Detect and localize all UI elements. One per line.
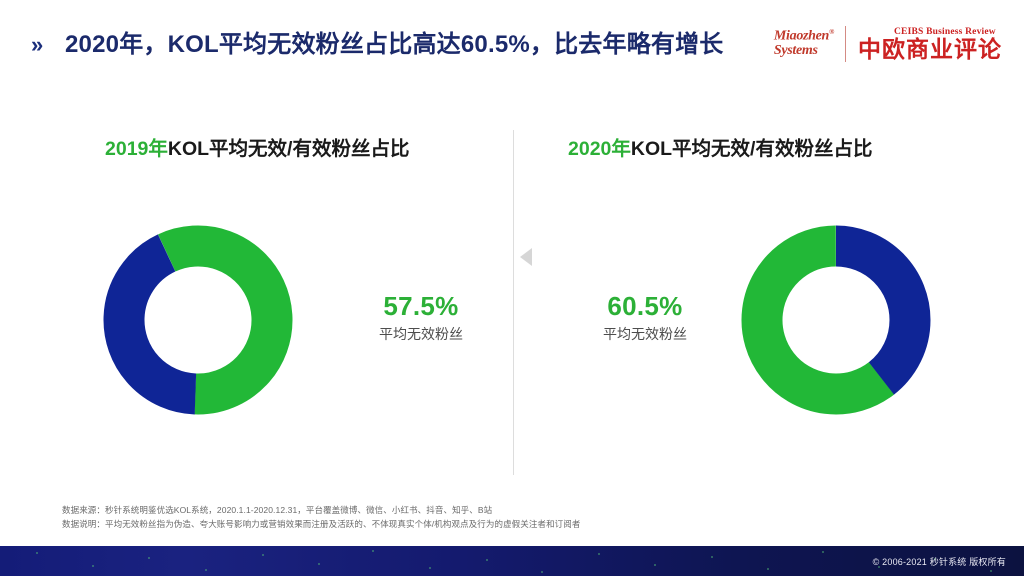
footnotes: 数据来源：秒针系统明鉴优选KOL系统，2020.1.1-2020.12.31，平… [62, 504, 962, 531]
panel-title-year-2020: 2020年 [568, 138, 631, 160]
miaozhen-systems-logo: Miaozhen® Systems [774, 29, 845, 58]
logo-ceibs-chinese: 中欧商业评论 [858, 38, 1002, 62]
chart-panel-2020: 2020年KOL平均无效/有效粉丝占比 60.5% 平均无效粉丝 [520, 110, 1000, 490]
percent-caption-2019: 平均无效粉丝 [321, 325, 521, 344]
footnote-definition: 数据说明：平均无效粉丝指为伪造、夸大账号影响力或营销效果而注册及活跃的、不体现真… [62, 518, 962, 532]
logo-group: Miaozhen® Systems CEIBS Business Review … [774, 22, 1002, 66]
panel-title-text-2019: KOL平均无效/有效粉丝占比 [168, 138, 410, 160]
slide-footer-bar: © 2006-2021 秒针系统 版权所有 [0, 546, 1024, 576]
panel-title-2020: 2020年KOL平均无效/有效粉丝占比 [568, 136, 872, 162]
page-title: 2020年，KOL平均无效粉丝占比高达60.5%，比去年略有增长 [65, 29, 724, 61]
percent-value-2019: 57.5% [321, 290, 521, 322]
footnote-source: 数据来源：秒针系统明鉴优选KOL系统，2020.1.1-2020.12.31，平… [62, 504, 962, 518]
callout-2020: 60.5% 平均无效粉丝 [545, 290, 745, 344]
registered-mark-icon: ® [829, 28, 834, 36]
callout-2019: 57.5% 平均无效粉丝 [321, 290, 521, 344]
slide-canvas: » 2020年，KOL平均无效粉丝占比高达60.5%，比去年略有增长 Miaoz… [0, 0, 1024, 576]
panel-title-2019: 2019年KOL平均无效/有效粉丝占比 [105, 136, 409, 162]
panel-title-text-2020: KOL平均无效/有效粉丝占比 [631, 138, 873, 160]
logo-miaozhen-line1: Miaozhen [774, 29, 829, 44]
donut-chart-2019 [93, 215, 303, 425]
logo-ceibs-english: CEIBS Business Review [894, 27, 1002, 37]
copyright-text: © 2006-2021 秒针系统 版权所有 [873, 555, 1006, 568]
ceibs-business-review-logo: CEIBS Business Review 中欧商业评论 [846, 27, 1002, 62]
double-chevron-right-icon: » [31, 34, 39, 56]
slide-header: » 2020年，KOL平均无效粉丝占比高达60.5%，比去年略有增长 Miaoz… [0, 0, 1024, 84]
panel-title-year-2019: 2019年 [105, 138, 168, 160]
percent-caption-2020: 平均无效粉丝 [545, 325, 745, 344]
logo-miaozhen-line2: Systems [774, 44, 834, 58]
chart-panel-2019: 2019年KOL平均无效/有效粉丝占比 57.5% 平均无效粉丝 [40, 110, 510, 490]
percent-value-2020: 60.5% [545, 290, 745, 322]
donut-chart-2020 [731, 215, 941, 425]
